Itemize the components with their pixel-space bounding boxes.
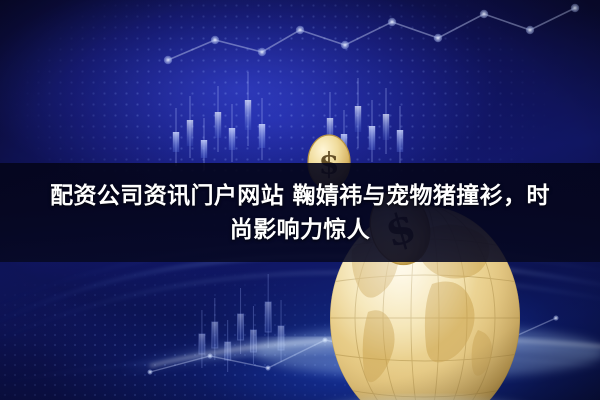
headline-text: 配资公司资讯门户网站 鞠婧祎与宠物猪撞衫，时 尚影响力惊人 <box>0 163 600 262</box>
headline-line-1: 配资公司资讯门户网站 鞠婧祎与宠物猪撞衫，时 <box>50 181 550 211</box>
banner-image: $ $ 配资公司资讯门户网站 鞠婧祎与宠物猪撞衫，时 尚影响力惊人 <box>0 0 600 400</box>
headline-line-2: 尚影响力惊人 <box>230 215 370 245</box>
